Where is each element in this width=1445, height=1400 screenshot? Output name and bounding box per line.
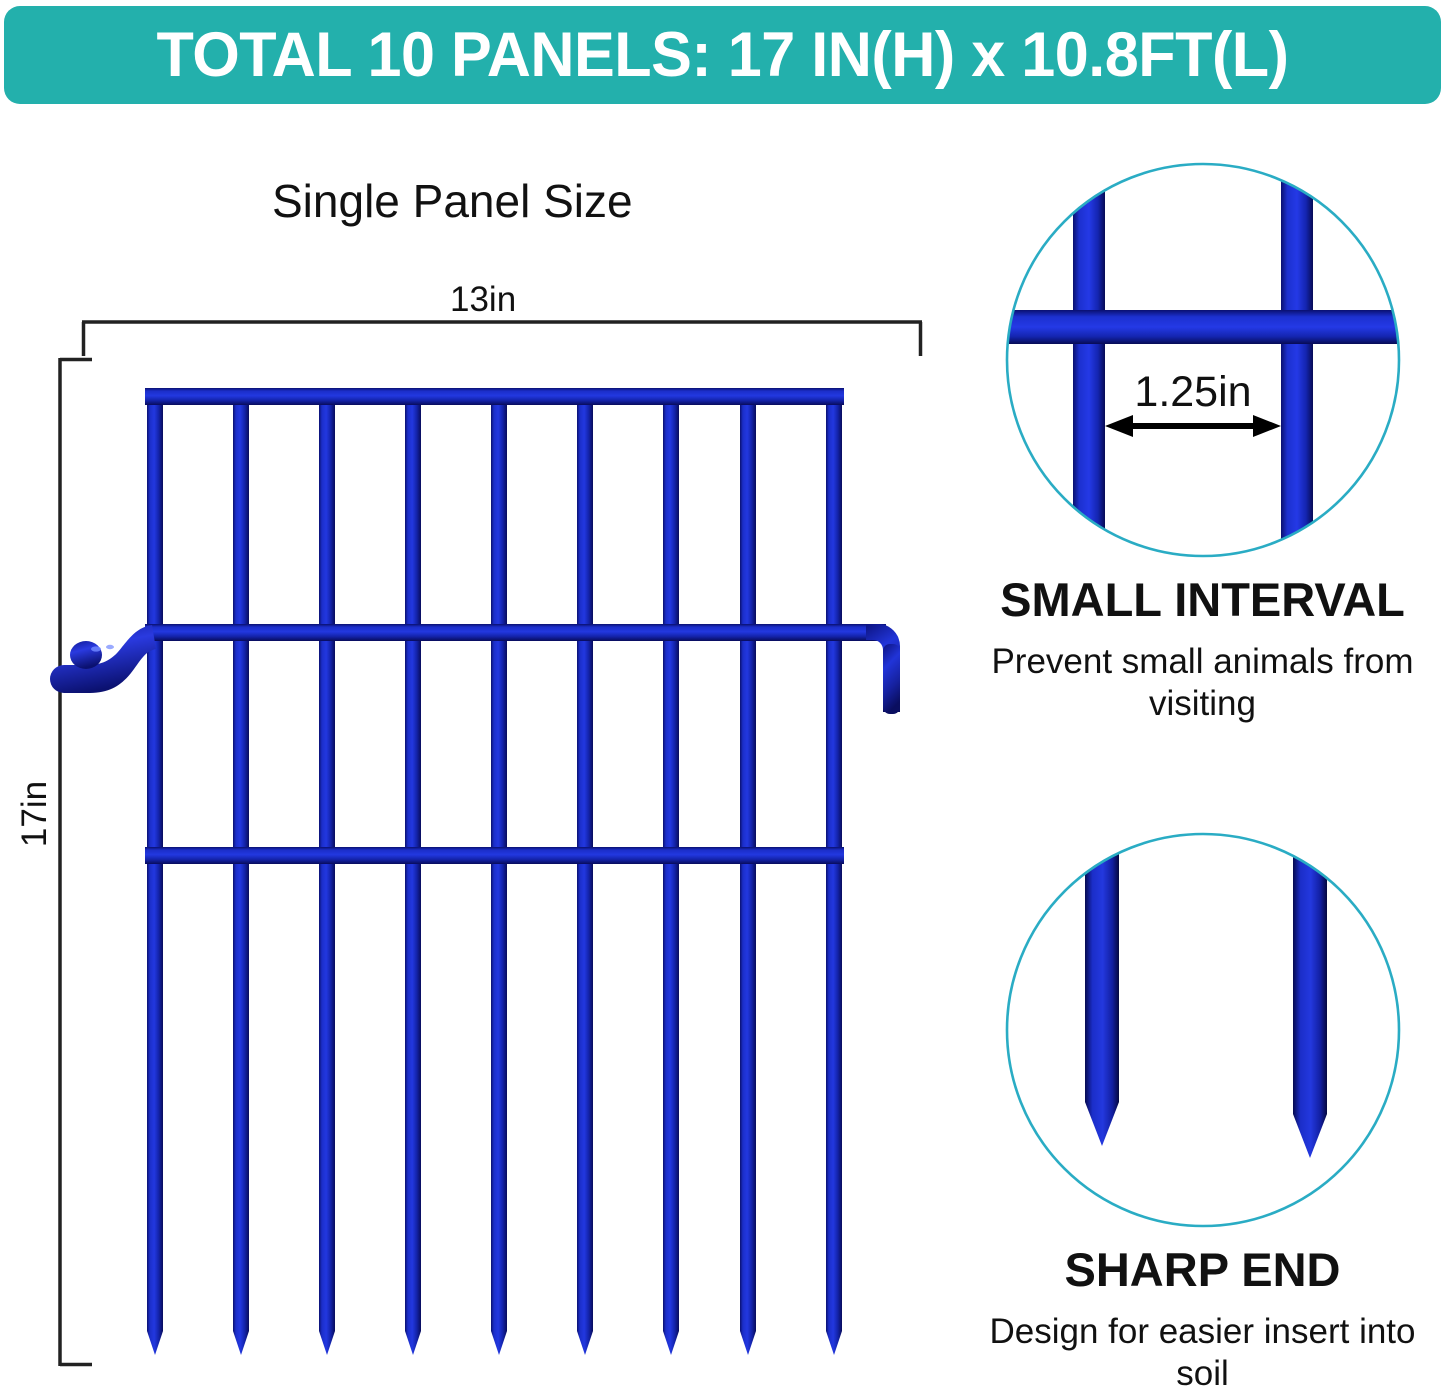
sharp-end-title: SHARP END — [960, 1244, 1445, 1297]
single-panel-diagram-section: Single Panel Size 13in 17in — [0, 104, 960, 1400]
fence-rail-lower — [145, 847, 844, 864]
feature-callouts-section: 1.25in SMALL INTERVAL Prevent small anim… — [960, 104, 1445, 1400]
callout-circle-outline — [1007, 164, 1399, 556]
fence-wires — [50, 388, 900, 1355]
small-interval-description: Prevent small animals from visiting — [960, 641, 1445, 726]
fence-vertical-bars — [147, 392, 842, 1355]
mesh-vertical-wire-right — [1281, 164, 1313, 556]
fence-left-loop — [50, 625, 156, 693]
mesh-vertical-wire-left — [1073, 164, 1105, 556]
fence-rail-top — [145, 388, 844, 405]
header-banner: TOTAL 10 PANELS: 17 IN(H) x 10.8FT(L) — [4, 6, 1441, 104]
sharp-spike-right — [1293, 834, 1327, 1158]
height-dimension-bracket — [60, 358, 92, 1366]
mesh-horizontal-wire — [997, 310, 1409, 344]
feature-small-interval: 1.25in SMALL INTERVAL Prevent small anim… — [960, 150, 1445, 726]
feature-sharp-end: SHARP END Design for easier insert into … — [960, 820, 1445, 1396]
interval-measure-label: 1.25in — [1134, 368, 1251, 416]
header-banner-text: TOTAL 10 PANELS: 17 IN(H) x 10.8FT(L) — [156, 24, 1288, 87]
callout-circle-outline — [1007, 834, 1399, 1226]
small-interval-title: SMALL INTERVAL — [960, 574, 1445, 627]
sharp-spike-left — [1085, 830, 1119, 1146]
sharp-end-description: Design for easier insert into soil — [960, 1311, 1445, 1396]
mesh-interval-illustration: 1.25in — [993, 150, 1413, 570]
small-interval-circle: 1.25in — [993, 150, 1413, 570]
sharp-end-illustration — [993, 820, 1413, 1240]
fence-panel-illustration — [0, 104, 960, 1400]
width-dimension-bracket — [82, 322, 922, 356]
interval-measure-arrow — [1105, 415, 1281, 437]
sharp-end-circle — [993, 820, 1413, 1240]
fence-rail-middle — [145, 624, 886, 641]
